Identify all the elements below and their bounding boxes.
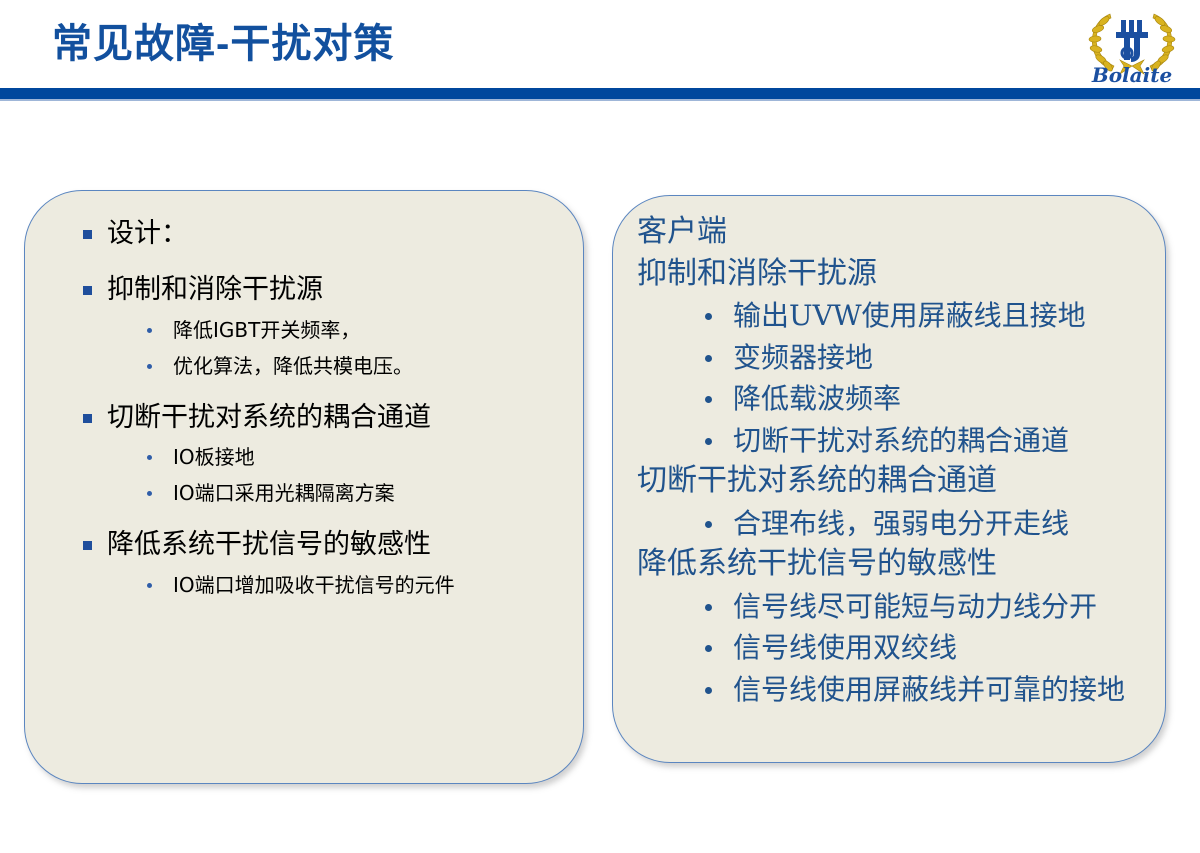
list-item: 信号线使用双绞线 (623, 629, 1179, 667)
dot-bullet-icon (705, 355, 712, 362)
list-item-label: 优化算法，降低共模电压。 (173, 354, 413, 378)
list-item-label: 降低IGBT开关频率， (173, 318, 360, 342)
list-item-label: IO板接地 (173, 445, 255, 469)
logo-emblem-icon: Bolaite (1080, 4, 1184, 86)
dot-bullet-icon (147, 328, 152, 333)
list-item: 输出UVW使用屏蔽线且接地 (623, 297, 1179, 335)
list-item: 降低IGBT开关频率， (63, 317, 573, 343)
list-item: 客户端 (623, 212, 1179, 252)
list-item-label: IO端口增加吸收干扰信号的元件 (173, 573, 455, 597)
dot-bullet-icon (705, 687, 712, 694)
dot-bullet-icon (705, 396, 712, 403)
list-item-label: 切断干扰对系统的耦合通道 (733, 424, 1069, 457)
list-item: 切断干扰对系统的耦合通道 (63, 401, 573, 435)
dot-bullet-icon (705, 604, 712, 611)
list-item-label: 信号线使用双绞线 (733, 631, 957, 664)
list-item-label: 合理布线，强弱电分开走线 (733, 507, 1069, 540)
list-item-label: 抑制和消除干扰源 (107, 274, 323, 305)
square-bullet-icon (83, 230, 92, 239)
list-item: 降低载波频率 (623, 380, 1179, 418)
square-bullet-icon (83, 541, 92, 550)
title-divider-bar (0, 88, 1200, 101)
list-item-label: 降低系统干扰信号的敏感性 (637, 546, 997, 581)
dot-bullet-icon (705, 313, 712, 320)
list-item-label: 降低载波频率 (733, 382, 901, 415)
list-item-label: 切断干扰对系统的耦合通道 (107, 402, 431, 433)
list-item-label: IO端口采用光耦隔离方案 (173, 481, 395, 505)
list-item-label: 输出UVW使用屏蔽线且接地 (733, 299, 1086, 332)
slide-header: 常见故障-干扰对策 (0, 0, 1200, 100)
dot-bullet-icon (705, 521, 712, 528)
list-item-label: 抑制和消除干扰源 (637, 256, 877, 291)
design-measures-panel: 设计： 抑制和消除干扰源 降低IGBT开关频率， 优化算法，降低共模电压。 切断… (24, 190, 584, 784)
customer-side-measures-panel: 客户端 抑制和消除干扰源 输出UVW使用屏蔽线且接地 变频器接地 降低载波频率 … (612, 195, 1166, 763)
list-item: 抑制和消除干扰源 (623, 254, 1179, 294)
list-item: IO板接地 (63, 444, 573, 470)
logo-wordmark: Bolaite (1091, 63, 1172, 86)
list-item: 设计： (63, 217, 573, 251)
dot-bullet-icon (147, 491, 152, 496)
square-bullet-icon (83, 414, 92, 423)
dot-bullet-icon (147, 364, 152, 369)
list-item: 合理布线，强弱电分开走线 (623, 505, 1179, 543)
square-bullet-icon (83, 286, 92, 295)
design-measures-list: 设计： 抑制和消除干扰源 降低IGBT开关频率， 优化算法，降低共模电压。 切断… (63, 209, 573, 598)
list-item-label: 设计： (107, 218, 188, 249)
list-item: 抑制和消除干扰源 (63, 273, 573, 307)
list-item: 变频器接地 (623, 339, 1179, 377)
list-item: 降低系统干扰信号的敏感性 (63, 528, 573, 562)
bolaite-logo: Bolaite (1080, 4, 1184, 86)
list-item: IO端口增加吸收干扰信号的元件 (63, 572, 573, 598)
list-item-label: 客户端 (637, 214, 727, 249)
list-item: 信号线尽可能短与动力线分开 (623, 588, 1179, 626)
list-item: 切断干扰对系统的耦合通道 (623, 461, 1179, 501)
list-item: IO端口采用光耦隔离方案 (63, 480, 573, 506)
dot-bullet-icon (147, 583, 152, 588)
list-item-label: 降低系统干扰信号的敏感性 (107, 529, 431, 560)
dot-bullet-icon (705, 438, 712, 445)
list-item-label: 信号线尽可能短与动力线分开 (733, 590, 1097, 623)
list-item-label: 切断干扰对系统的耦合通道 (637, 463, 997, 498)
list-item: 切断干扰对系统的耦合通道 (623, 422, 1179, 460)
list-item: 优化算法，降低共模电压。 (63, 353, 573, 379)
list-item-label: 变频器接地 (733, 341, 873, 374)
page-title: 常见故障-干扰对策 (52, 22, 394, 66)
list-item: 降低系统干扰信号的敏感性 (623, 544, 1179, 584)
customer-side-measures-list: 客户端 抑制和消除干扰源 输出UVW使用屏蔽线且接地 变频器接地 降低载波频率 … (623, 210, 1179, 709)
list-item-label: 信号线使用屏蔽线并可靠的接地 (733, 673, 1125, 706)
dot-bullet-icon (147, 455, 152, 460)
list-item: 信号线使用屏蔽线并可靠的接地 (623, 671, 1179, 709)
dot-bullet-icon (705, 645, 712, 652)
